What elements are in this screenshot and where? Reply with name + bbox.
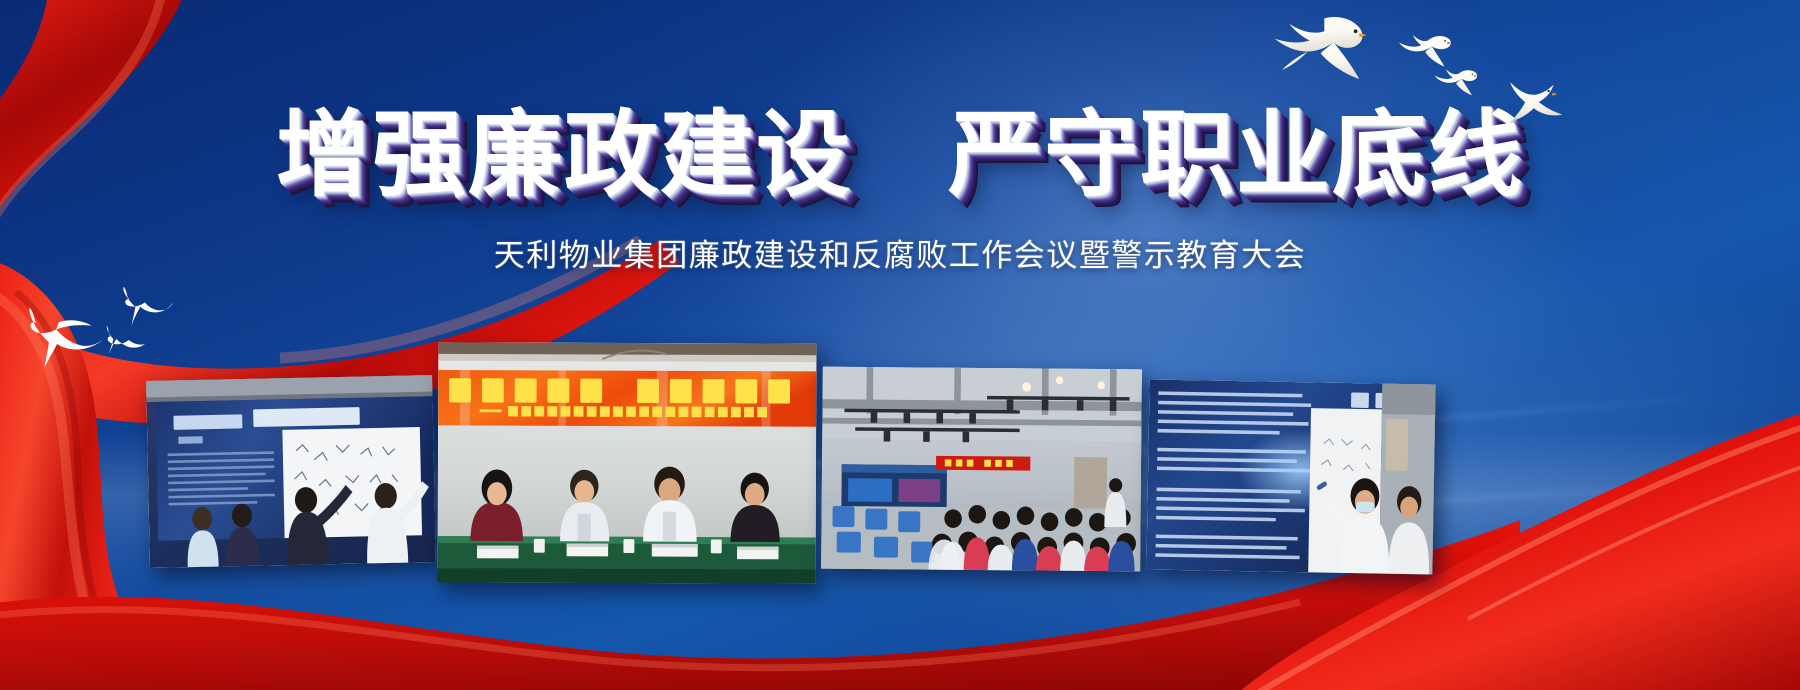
dove-photo-small: [1432, 64, 1488, 106]
photo-1-artwork: [146, 375, 436, 568]
dove-silhouette-small: [100, 320, 148, 360]
sub-headline: 天利物业集团廉政建设和反腐败工作会议暨警示教育大会: [0, 230, 1800, 275]
photo-signing-wall-right[interactable]: [1146, 380, 1435, 575]
photo-signing-wall-left[interactable]: [146, 375, 436, 568]
photo-conference-table[interactable]: [438, 342, 817, 583]
main-headline: 增强廉政建设 严守职业底线: [276, 108, 1524, 204]
dove-photo-medium: [1396, 29, 1464, 79]
photo-audience-hall[interactable]: [821, 367, 1142, 572]
dove-photo-large: [1262, 11, 1394, 103]
promotional-banner: 增强廉政建设 严守职业底线 天利物业集团廉政建设和反腐败工作会议暨警示教育大会: [0, 0, 1800, 690]
dove-silhouette-large: [22, 293, 114, 375]
photo-3-artwork: [821, 367, 1142, 572]
photo-4-artwork: [1146, 380, 1435, 575]
dove-silhouette-medium: [118, 278, 174, 330]
photo-2-artwork: [438, 342, 817, 583]
title-block: 增强廉政建设 严守职业底线 天利物业集团廉政建设和反腐败工作会议暨警示教育大会: [0, 108, 1800, 275]
dove-photo-far: [1487, 76, 1583, 138]
photo-strip: [0, 0, 1800, 690]
